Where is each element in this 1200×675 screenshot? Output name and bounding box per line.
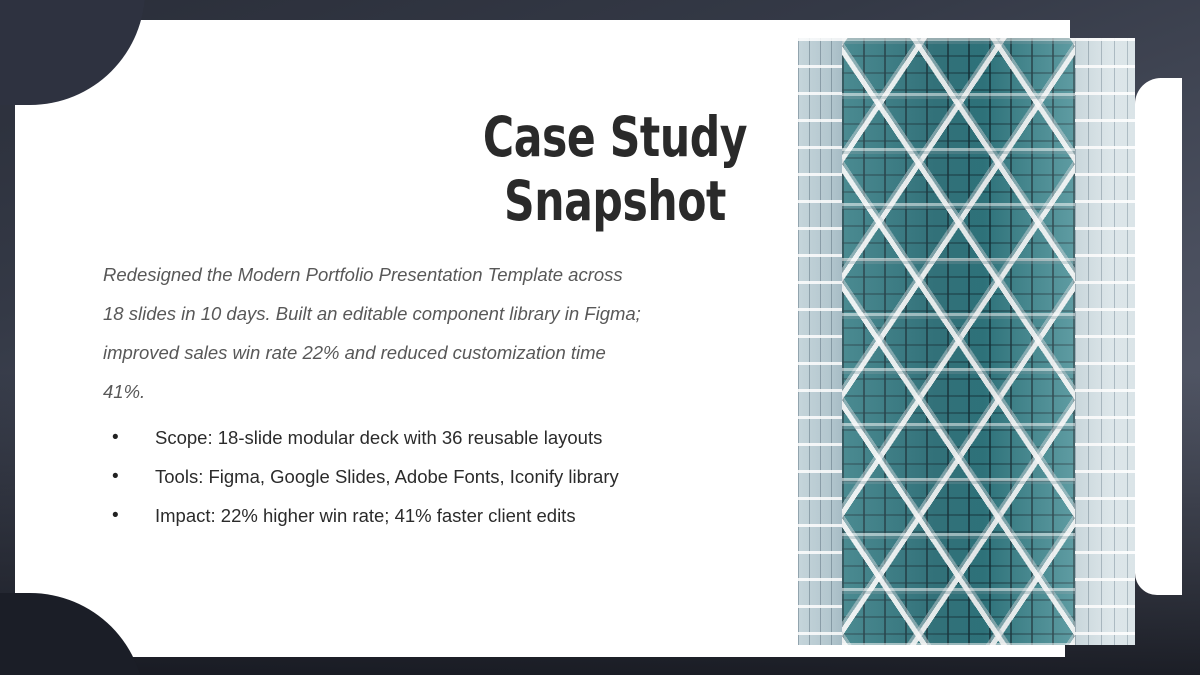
list-item: • Impact: 22% higher win rate; 41% faste… (103, 496, 648, 535)
bullet-dot-icon: • (112, 418, 119, 457)
list-item-label: Tools: Figma, Google Slides, Adobe Fonts… (155, 466, 619, 487)
slide-canvas: Case Study Snapshot Redesigned the Moder… (0, 0, 1200, 675)
list-item-label: Scope: 18-slide modular deck with 36 reu… (155, 427, 602, 448)
corner-decoration-bottom-left (0, 593, 145, 675)
right-accent-panel-fill (1160, 78, 1182, 595)
list-item: • Scope: 18-slide modular deck with 36 r… (103, 418, 648, 457)
summary-paragraph: Redesigned the Modern Portfolio Presenta… (103, 255, 643, 411)
photo-lighting-overlay (798, 38, 1135, 645)
page-title: Case Study Snapshot (426, 105, 804, 233)
bullet-dot-icon: • (112, 496, 119, 535)
detail-bullet-list: • Scope: 18-slide modular deck with 36 r… (103, 418, 648, 535)
list-item-label: Impact: 22% higher win rate; 41% faster … (155, 505, 576, 526)
list-item: • Tools: Figma, Google Slides, Adobe Fon… (103, 457, 648, 496)
glass-office-tower-photo (798, 38, 1135, 645)
corner-decoration-top-left (0, 0, 145, 105)
bullet-dot-icon: • (112, 457, 119, 496)
